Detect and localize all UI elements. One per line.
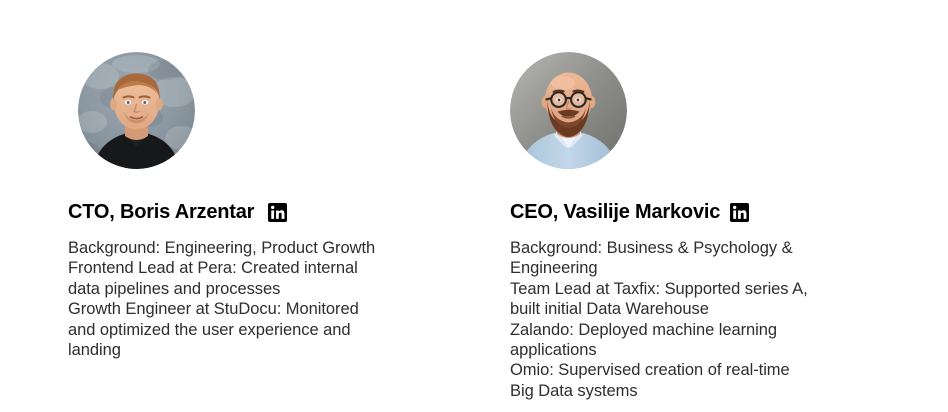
bio-line: applications xyxy=(510,340,862,360)
bio-line: built initial Data Warehouse xyxy=(510,299,862,319)
profile-name-row: CTO, Boris Arzentar xyxy=(68,200,468,224)
bio-line: and optimized the user experience and xyxy=(68,320,413,340)
bio-line: Background: Business & Psychology & xyxy=(510,238,862,258)
bio-line: Zalando: Deployed machine learning xyxy=(510,320,862,340)
profile-bio: Background: Business & Psychology & Engi… xyxy=(510,238,862,401)
avatar xyxy=(510,52,627,169)
avatar xyxy=(78,52,195,169)
bio-line: Team Lead at Taxfix: Supported series A, xyxy=(510,279,862,299)
profile-card-cto: CTO, Boris Arzentar Background: Engineer… xyxy=(68,52,468,360)
person-name: CTO, Boris Arzentar xyxy=(68,200,254,224)
bio-line: data pipelines and processes xyxy=(68,279,413,299)
profile-card-ceo: CEO, Vasilije Markovic Background: Busin… xyxy=(510,52,910,401)
linkedin-icon[interactable] xyxy=(268,203,287,222)
bio-line: Frontend Lead at Pera: Created internal xyxy=(68,258,413,278)
bio-line: Omio: Supervised creation of real-time xyxy=(510,360,862,380)
bio-line: Big Data systems xyxy=(510,381,862,401)
bio-line: landing xyxy=(68,340,413,360)
team-profiles-section: CTO, Boris Arzentar Background: Engineer… xyxy=(0,0,948,412)
person-name: CEO, Vasilije Markovic xyxy=(510,200,720,224)
bio-line: Growth Engineer at StuDocu: Monitored xyxy=(68,299,413,319)
bio-line: Background: Engineering, Product Growth xyxy=(68,238,413,258)
profile-name-row: CEO, Vasilije Markovic xyxy=(510,200,910,224)
profile-bio: Background: Engineering, Product Growth … xyxy=(68,238,413,360)
linkedin-icon[interactable] xyxy=(730,203,749,222)
bio-line: Engineering xyxy=(510,258,862,278)
